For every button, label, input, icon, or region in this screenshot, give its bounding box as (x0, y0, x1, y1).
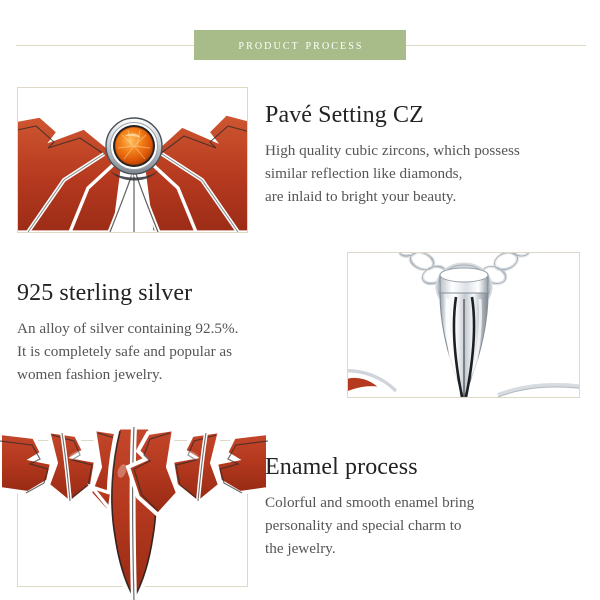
section-body-enamel-line-2: personality and special charm to (265, 514, 585, 537)
header-rule-right (406, 45, 586, 46)
product-image-silver (347, 252, 580, 398)
section-body-silver-line-3: women fashion jewelry. (17, 363, 327, 386)
section-body-enamel-line-1: Colorful and smooth enamel bring (265, 491, 585, 514)
section-body-enamel: Colorful and smooth enamel bring persona… (265, 491, 585, 560)
product-image-enamel (17, 440, 248, 587)
product-image-cz (17, 87, 248, 233)
header-title-label: Product process (236, 38, 363, 53)
header-rule-left (16, 45, 194, 46)
silver-bail-chain-illustration (348, 253, 579, 397)
page-header: Product process (0, 30, 600, 60)
section-body-silver: An alloy of silver containing 92.5%. It … (17, 317, 327, 386)
section-body-cz: High quality cubic zircons, which posses… (265, 139, 585, 208)
header-title-chip: Product process (194, 30, 406, 60)
section-title-cz: Pavé Setting CZ (265, 100, 585, 130)
product-image-enamel-clip (18, 441, 247, 586)
section-text-enamel: Enamel process Colorful and smooth ename… (265, 452, 585, 560)
section-body-cz-line-3: are inlaid to bright your beauty. (265, 185, 585, 208)
section-text-cz: Pavé Setting CZ High quality cubic zirco… (265, 100, 585, 208)
section-body-cz-line-2: similar reflection like diamonds, (265, 162, 585, 185)
enamel-maple-leaf-illustration (18, 441, 247, 586)
section-body-silver-line-2: It is completely safe and popular as (17, 340, 327, 363)
section-body-cz-line-1: High quality cubic zircons, which posses… (265, 139, 585, 162)
section-title-silver: 925 sterling silver (17, 278, 327, 308)
product-image-cz-clip (18, 88, 247, 232)
section-body-enamel-line-3: the jewelry. (265, 537, 585, 560)
section-text-silver: 925 sterling silver An alloy of silver c… (17, 278, 327, 386)
maple-leaf-cz-illustration (18, 88, 247, 232)
section-title-enamel: Enamel process (265, 452, 585, 482)
section-body-silver-line-1: An alloy of silver containing 92.5%. (17, 317, 327, 340)
product-image-silver-clip (348, 253, 579, 397)
